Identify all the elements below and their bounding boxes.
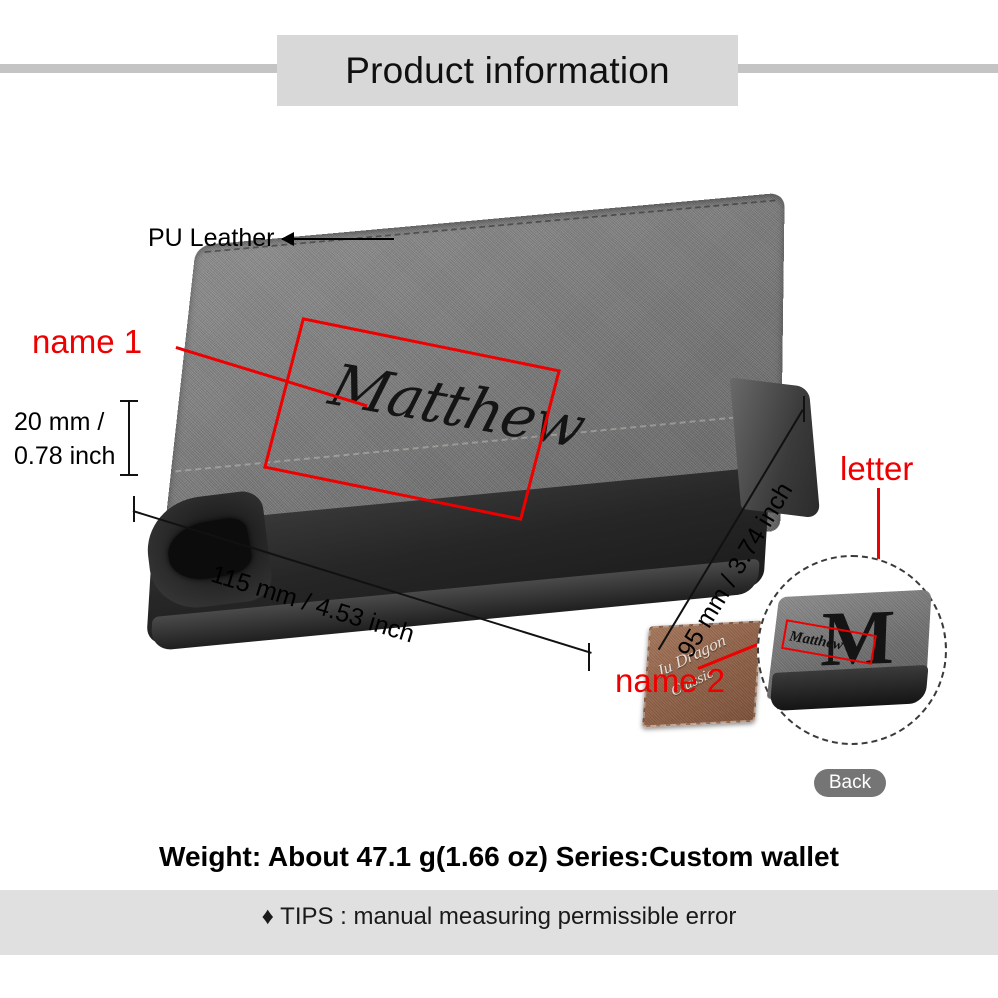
width-tick-left	[133, 496, 135, 522]
letter-label: letter	[840, 450, 913, 488]
thickness-dimension-label: 20 mm / 0.78 inch	[14, 405, 115, 473]
pu-leather-label: PU Leather	[148, 224, 274, 253]
tips-text: ♦ TIPS : manual measuring permissible er…	[0, 903, 998, 931]
name2-label: name 2	[615, 662, 725, 700]
product-information-page: Product information Ju Dragon Classic Ma…	[0, 0, 998, 998]
thickness-line-1: 20 mm /	[14, 405, 115, 439]
name1-label: name 1	[32, 323, 142, 361]
thickness-line-2: 0.78 inch	[14, 439, 115, 473]
back-badge-label: Back	[829, 772, 871, 794]
thickness-dimension-bar	[128, 400, 130, 476]
weight-series-text: Weight: About 47.1 g(1.66 oz) Series:Cus…	[0, 841, 998, 873]
width-tick-right	[588, 643, 590, 671]
pu-leather-arrow-icon	[282, 238, 394, 240]
page-title: Product information	[345, 50, 670, 92]
back-view-badge: Back	[814, 769, 886, 797]
header-title-box: Product information	[277, 35, 738, 106]
back-detail-inset: M Matthew	[757, 555, 947, 745]
